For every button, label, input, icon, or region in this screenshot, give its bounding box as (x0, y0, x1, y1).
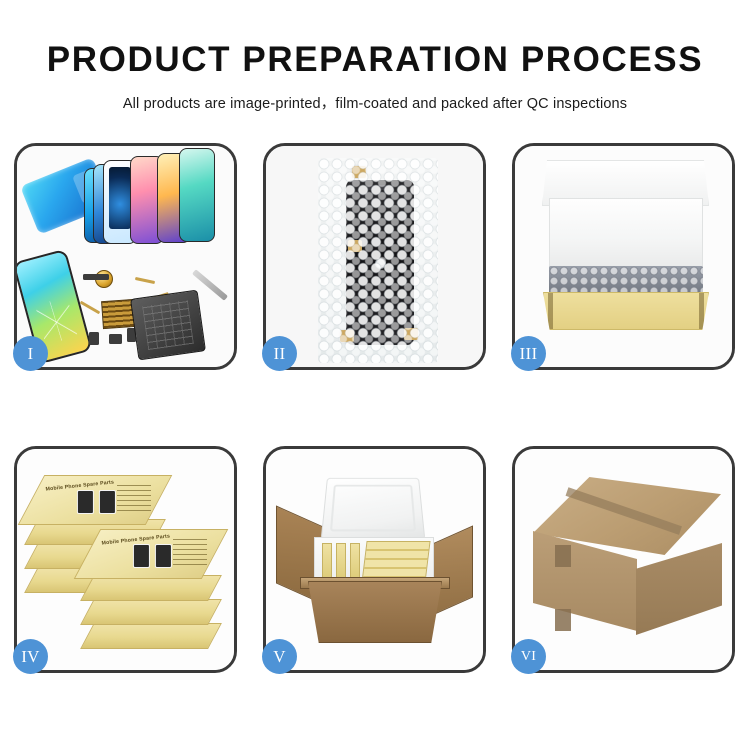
process-step-5[interactable]: V (263, 446, 486, 673)
process-step-2[interactable]: II (263, 143, 486, 370)
step-badge-2: II (262, 336, 297, 371)
kraft-box-body (543, 292, 709, 330)
stacked-box-top-rear: Mobile Phone Spare Parts (18, 475, 173, 525)
bubble-wrapped-screen-image (266, 146, 483, 367)
box-feature-lines-rear (117, 485, 151, 515)
process-step-3[interactable]: III (512, 143, 735, 370)
process-step-4[interactable]: Mobile Phone Spare Parts Mobile Phone Sp… (14, 446, 237, 673)
box-thumbnail-3 (133, 544, 150, 568)
bubble-wrap-bag (318, 158, 438, 363)
white-foam-sheet (549, 198, 703, 270)
box-stack: Mobile Phone Spare Parts Mobile Phone Sp… (25, 471, 225, 656)
carton-front-panel (308, 581, 442, 643)
process-step-6[interactable]: VI (512, 446, 735, 673)
box-thumbnail-1 (77, 490, 94, 514)
phone-parts-collage-image (17, 146, 234, 367)
header: PRODUCT PREPARATION PROCESS All products… (0, 0, 750, 113)
stacked-box-layer-5 (80, 599, 222, 625)
open-kraft-box-image (515, 146, 732, 367)
box-thumbnail-2 (99, 490, 116, 514)
carton-right-face (636, 543, 722, 635)
stacked-boxes-image: Mobile Phone Spare Parts Mobile Phone Sp… (17, 449, 234, 670)
chip-part-1 (83, 274, 109, 280)
step-badge-3: III (511, 336, 546, 371)
carton-tape-patch-2 (555, 609, 571, 631)
stacked-box-layer-4 (80, 623, 222, 649)
step-badge-1: I (13, 336, 48, 371)
box-thumbnail-4 (155, 544, 172, 568)
step-badge-4: IV (13, 639, 48, 674)
process-step-1[interactable]: I (14, 143, 237, 370)
flex-cable-1 (80, 301, 101, 315)
flex-cable-3 (135, 277, 155, 284)
box-feature-lines-front (173, 539, 207, 569)
carton-with-foam-image (266, 449, 483, 670)
carton-tape-patch-1 (555, 545, 571, 567)
styrofoam-lid (321, 478, 426, 540)
chip-part-3 (109, 334, 122, 344)
phone-logic-board-icon (130, 290, 206, 361)
yellow-box-1 (322, 543, 332, 581)
process-steps-grid: I II (14, 143, 736, 673)
bubble-texture (318, 158, 438, 363)
sealed-carton-image (515, 449, 732, 670)
product-preparation-infographic: PRODUCT PREPARATION PROCESS All products… (0, 0, 750, 750)
chip-part-2 (89, 332, 99, 345)
yellow-box-2 (336, 543, 346, 581)
phone-screen-6 (179, 148, 215, 242)
page-title: PRODUCT PREPARATION PROCESS (0, 42, 750, 79)
yellow-box-3 (350, 543, 360, 581)
bubble-padding-layer (549, 266, 703, 296)
page-subtitle: All products are image-printed，film-coat… (0, 92, 750, 113)
step-badge-5: V (262, 639, 297, 674)
step-badge-6: VI (511, 639, 546, 674)
stacked-box-top-front: Mobile Phone Spare Parts (74, 529, 229, 579)
